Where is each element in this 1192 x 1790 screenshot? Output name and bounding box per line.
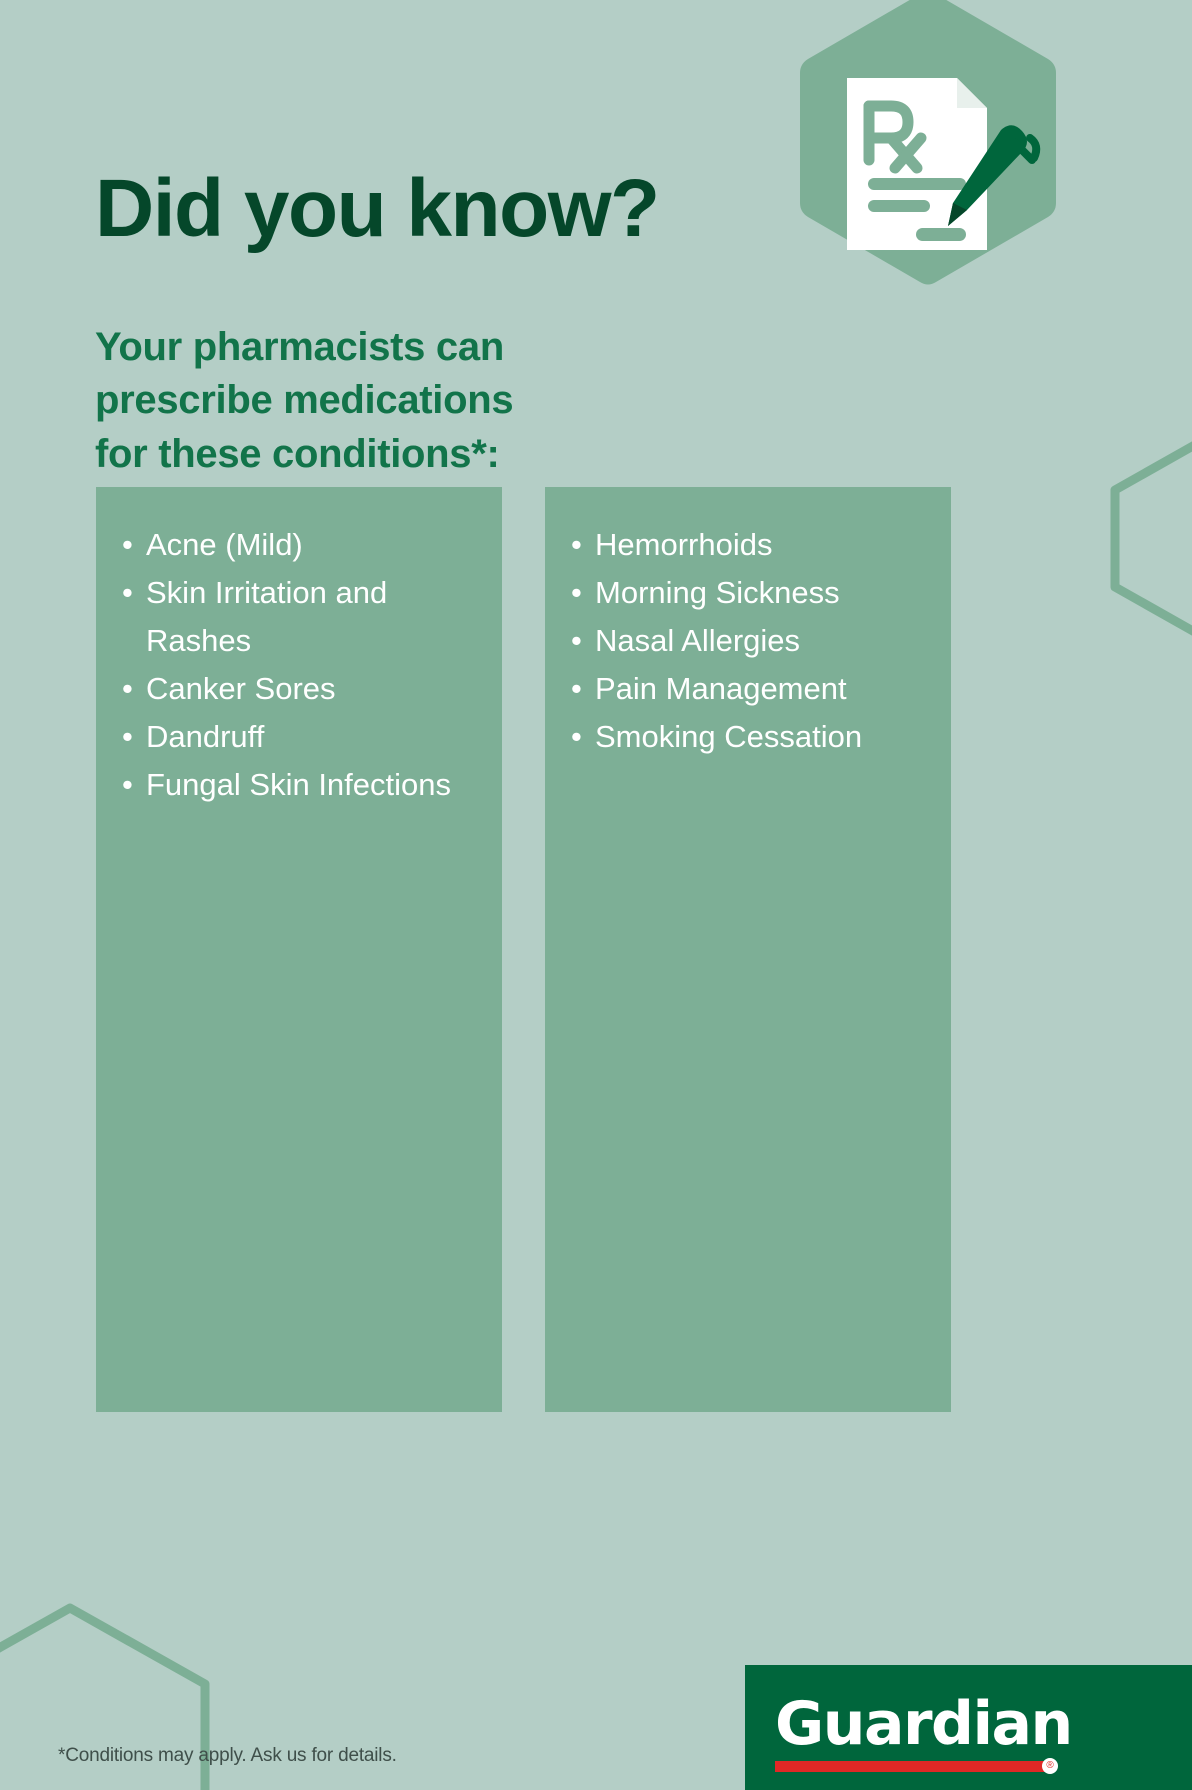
hexagon-badge [742,0,1062,402]
hexagon-outline-icon [1100,432,1192,732]
list-item: Dandruff [122,713,476,761]
registered-trademark-icon: ® [1042,1758,1058,1774]
conditions-panel-left: Acne (Mild) Skin Irritation and Rashes C… [96,487,502,1412]
conditions-list-right: Hemorrhoids Morning Sickness Nasal Aller… [545,487,951,761]
conditions-panel-right: Hemorrhoids Morning Sickness Nasal Aller… [545,487,951,1412]
prescription-document-icon [847,78,1036,250]
list-item: Fungal Skin Infections [122,761,476,809]
page-subtitle: Your pharmacists can prescribe medicatio… [95,321,513,481]
list-item: Nasal Allergies [571,617,925,665]
footnote-disclaimer: *Conditions may apply. Ask us for detail… [58,1745,397,1767]
list-item: Acne (Mild) [122,521,476,569]
list-item: Smoking Cessation [571,713,925,761]
list-item: Hemorrhoids [571,521,925,569]
list-item: Morning Sickness [571,569,925,617]
conditions-list-left: Acne (Mild) Skin Irritation and Rashes C… [96,487,502,809]
list-item: Canker Sores [122,665,476,713]
brand-wordmark: Guardian [775,1694,1072,1754]
list-item: Skin Irritation and Rashes [122,569,476,665]
list-item: Pain Management [571,665,925,713]
poster-canvas: Did you know? Your pharmacists can presc… [0,0,1192,1790]
pencil-icon [948,125,1036,226]
page-title: Did you know? [95,168,659,250]
brand-underline-rule [775,1761,1055,1772]
guardian-logo: Guardian ® [745,1665,1192,1790]
